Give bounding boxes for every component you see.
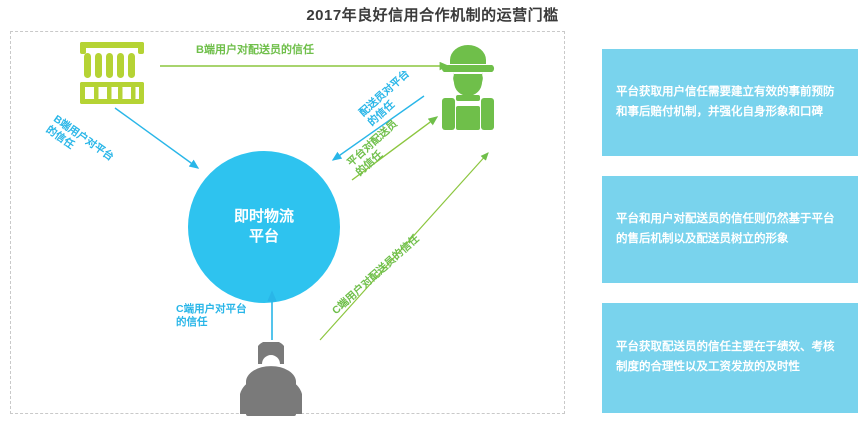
platform-node: 即时物流 平台 [188,151,340,303]
platform-node-label: 即时物流 平台 [234,207,294,248]
insight-panel-text: 平台获取用户信任需要建立有效的事前预防和事后赔付机制，并强化自身形象和口碑 [602,83,858,123]
page-title: 2017年良好信用合作机制的运营门槛 [0,4,865,25]
insight-panel-text: 平台获取配送员的信任主要在于绩效、考核制度的合理性以及工资发放的及时性 [602,338,858,378]
insight-panel-text: 平台和用户对配送员的信任则仍然基于平台的售后机制以及配送员树立的形象 [602,210,858,250]
person-laptop-icon [228,342,312,420]
arrow-label-c2platform: C端用户对平台 的信任 [176,303,271,329]
insight-panel: 平台获取用户信任需要建立有效的事前预防和事后赔付机制，并强化自身形象和口碑 [602,49,858,156]
insight-panel: 平台获取配送员的信任主要在于绩效、考核制度的合理性以及工资发放的及时性 [602,303,858,413]
arrow-label-b2c-courier: B端用户对配送员的信任 [196,44,314,58]
insight-panel: 平台和用户对配送员的信任则仍然基于平台的售后机制以及配送员树立的形象 [602,176,858,283]
storefront-icon [74,40,150,106]
